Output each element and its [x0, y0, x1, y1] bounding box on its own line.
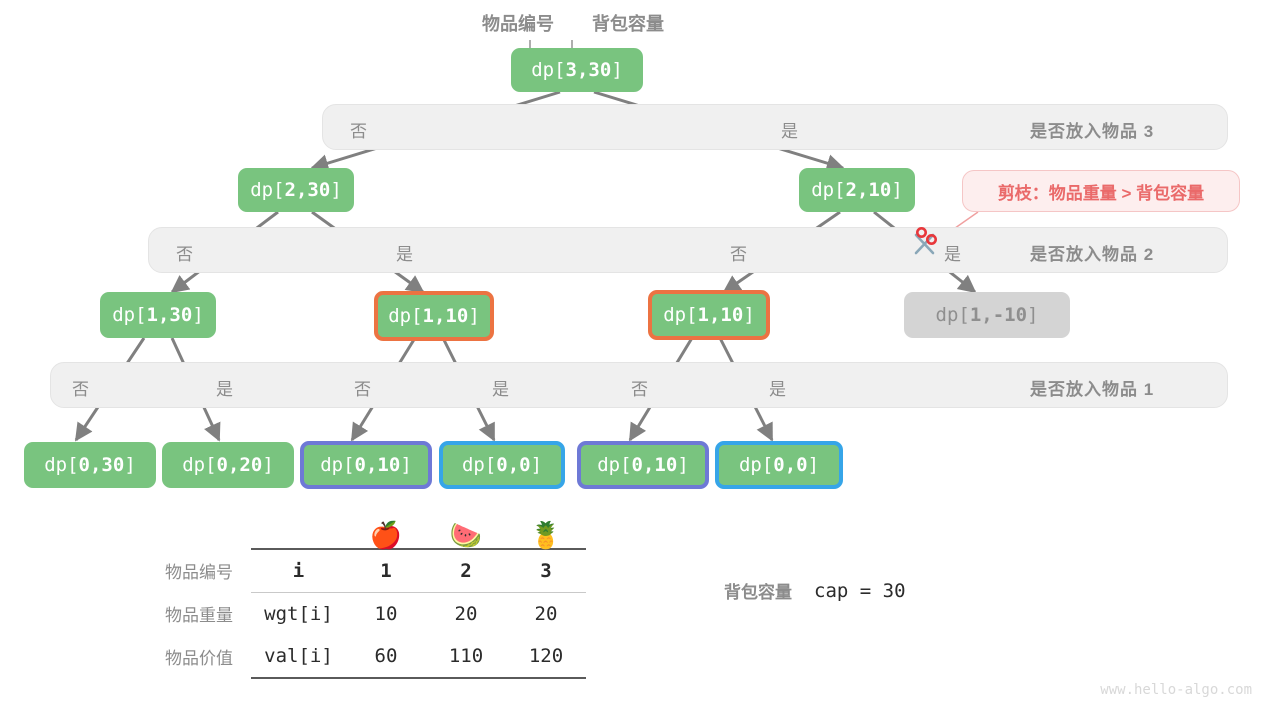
level-band-label-2: 是否放入物品 2 — [1030, 240, 1154, 265]
row-key-val: val[i] — [251, 635, 346, 678]
pineapple-icon: 🍍 — [506, 522, 586, 549]
cell-weight-2: 20 — [426, 593, 506, 636]
row-label-item-weight: 物品重量 — [165, 593, 251, 636]
node-suffix: ] — [330, 179, 341, 201]
branch-label-3-no: 否 — [350, 117, 367, 142]
node-value: 1,30 — [147, 304, 193, 326]
watermark: www.hello-algo.com — [1100, 682, 1252, 698]
cell-index-1: 1 — [346, 549, 426, 593]
node-value: 3,30 — [566, 59, 612, 81]
branch-label-2-no-b: 否 — [730, 240, 747, 265]
tree-leaf-dp-0-30[interactable]: dp[0,30] — [24, 442, 156, 488]
node-suffix: ] — [531, 454, 542, 476]
node-value: 0,0 — [496, 454, 530, 476]
cell-weight-3: 20 — [506, 593, 586, 636]
node-prefix: dp[ — [663, 304, 697, 326]
node-prefix: dp[ — [597, 454, 631, 476]
table-row-weight: 物品重量 wgt[i] 10 20 20 — [165, 593, 586, 636]
node-value: 1,10 — [698, 304, 744, 326]
node-suffix: ] — [468, 305, 479, 327]
tree-leaf-dp-0-0-right[interactable]: dp[0,0] — [715, 441, 843, 489]
capacity-expression: cap = 30 — [814, 580, 906, 602]
cell-value-3: 120 — [506, 635, 586, 678]
tree-node-dp-1-neg10-pruned[interactable]: dp[1,-10] — [904, 292, 1070, 338]
node-prefix: dp[ — [811, 179, 845, 201]
cell-weight-1: 10 — [346, 593, 426, 636]
annotation-bag-capacity: 背包容量 — [592, 10, 664, 36]
cell-index-2: 2 — [426, 549, 506, 593]
node-prefix: dp[ — [531, 59, 565, 81]
row-key-i: i — [251, 549, 346, 593]
cell-value-1: 60 — [346, 635, 426, 678]
annotation-item-index: 物品编号 — [482, 10, 554, 36]
table-row-value: 物品价值 val[i] 60 110 120 — [165, 635, 586, 678]
node-value: 2,10 — [846, 179, 892, 201]
node-prefix: dp[ — [250, 179, 284, 201]
tree-node-dp-2-30[interactable]: dp[2,30] — [238, 168, 354, 212]
node-prefix: dp[ — [739, 454, 773, 476]
tree-node-root[interactable]: dp[3,30] — [511, 48, 643, 92]
node-prefix: dp[ — [44, 454, 78, 476]
branch-label-1-no-b: 否 — [354, 375, 371, 400]
item-spec-table: 🍎 🍉 🍍 物品编号 i 1 2 3 物品重量 wgt[i] 10 20 20 — [165, 522, 586, 679]
branch-label-1-yes-c: 是 — [769, 375, 786, 400]
capacity-label: 背包容量 — [724, 578, 792, 603]
pruning-callout: 剪枝：物品重量 > 背包容量 — [962, 170, 1240, 212]
table-row-index: 物品编号 i 1 2 3 — [165, 549, 586, 593]
branch-label-3-yes: 是 — [781, 117, 798, 142]
node-suffix: ] — [192, 304, 203, 326]
node-value: 0,10 — [632, 454, 678, 476]
node-value: 1,-10 — [970, 304, 1027, 326]
tree-node-dp-1-30[interactable]: dp[1,30] — [100, 292, 216, 338]
node-suffix: ] — [1027, 304, 1038, 326]
row-label-item-index: 物品编号 — [165, 549, 251, 593]
branch-label-1-no-c: 否 — [631, 375, 648, 400]
table-row-icons: 🍎 🍉 🍍 — [165, 522, 586, 549]
node-value: 0,0 — [773, 454, 807, 476]
branch-label-2-no-a: 否 — [176, 240, 193, 265]
row-label-item-value: 物品价值 — [165, 635, 251, 678]
node-suffix: ] — [124, 454, 135, 476]
branch-label-2-yes-a: 是 — [396, 240, 413, 265]
cell-index-3: 3 — [506, 549, 586, 593]
watermelon-icon: 🍉 — [426, 522, 506, 549]
node-suffix: ] — [262, 454, 273, 476]
node-suffix: ] — [677, 454, 688, 476]
node-prefix: dp[ — [182, 454, 216, 476]
node-prefix: dp[ — [320, 454, 354, 476]
branch-label-1-yes-b: 是 — [492, 375, 509, 400]
tree-leaf-dp-0-10-left[interactable]: dp[0,10] — [300, 441, 432, 489]
node-suffix: ] — [400, 454, 411, 476]
row-key-wgt: wgt[i] — [251, 593, 346, 636]
node-value: 0,30 — [79, 454, 125, 476]
tree-leaf-dp-0-10-right[interactable]: dp[0,10] — [577, 441, 709, 489]
cell-value-2: 110 — [426, 635, 506, 678]
node-suffix: ] — [611, 59, 622, 81]
node-suffix: ] — [891, 179, 902, 201]
tree-node-dp-1-10-right[interactable]: dp[1,10] — [648, 290, 770, 340]
node-suffix: ] — [743, 304, 754, 326]
tree-leaf-dp-0-20[interactable]: dp[0,20] — [162, 442, 294, 488]
node-suffix: ] — [808, 454, 819, 476]
node-prefix: dp[ — [936, 304, 970, 326]
node-value: 0,10 — [355, 454, 401, 476]
branch-label-2-yes-b: 是 — [944, 240, 961, 265]
apple-icon: 🍎 — [346, 522, 426, 549]
scissors-icon — [908, 226, 942, 260]
level-band-label-1: 是否放入物品 1 — [1030, 375, 1154, 400]
level-band-label-3: 是否放入物品 3 — [1030, 117, 1154, 142]
branch-label-1-yes-a: 是 — [216, 375, 233, 400]
branch-label-1-no-a: 否 — [72, 375, 89, 400]
node-value: 1,10 — [423, 305, 469, 327]
node-value: 2,30 — [285, 179, 331, 201]
diagram-canvas: 物品编号 背包容量 是否放入物品 3 否 是 是否放入物品 2 否 是 否 是 … — [0, 0, 1280, 720]
tree-leaf-dp-0-0-left[interactable]: dp[0,0] — [439, 441, 565, 489]
node-prefix: dp[ — [462, 454, 496, 476]
tree-node-dp-2-10[interactable]: dp[2,10] — [799, 168, 915, 212]
node-value: 0,20 — [217, 454, 263, 476]
tree-node-dp-1-10-left[interactable]: dp[1,10] — [374, 291, 494, 341]
node-prefix: dp[ — [388, 305, 422, 327]
node-prefix: dp[ — [112, 304, 146, 326]
capacity-row: 背包容量 cap = 30 — [724, 578, 906, 603]
